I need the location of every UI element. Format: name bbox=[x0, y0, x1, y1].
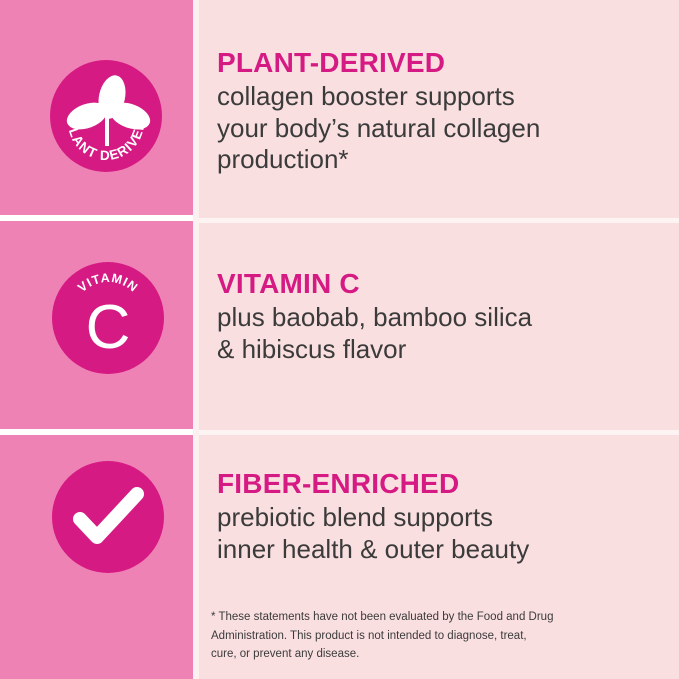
benefit-body: prebiotic blend supports inner health & … bbox=[217, 502, 667, 565]
benefit-block-vitamin-c: VITAMIN C plus baobab, bamboo silica & h… bbox=[217, 268, 667, 365]
fiber-enriched-badge bbox=[52, 461, 164, 573]
benefit-headline: PLANT-DERIVED bbox=[217, 47, 667, 79]
checkmark-icon bbox=[80, 494, 137, 537]
plant-derived-badge: PLANT DERIVED bbox=[50, 60, 162, 172]
benefit-block-plant-derived: PLANT-DERIVED collagen booster supports … bbox=[217, 47, 667, 176]
content-panel: PLANT-DERIVED collagen booster supports … bbox=[199, 0, 679, 679]
vitamin-badge-letter: C bbox=[86, 293, 131, 362]
vitamin-badge-arc-label: VITAMIN bbox=[75, 271, 141, 295]
benefit-body: plus baobab, bamboo silica & hibiscus fl… bbox=[217, 302, 667, 365]
fda-disclaimer: * These statements have not been evaluat… bbox=[211, 608, 626, 664]
badge-column-divider-2 bbox=[0, 429, 193, 435]
content-divider-1 bbox=[199, 218, 679, 223]
vitamin-c-badge: VITAMIN C bbox=[52, 262, 164, 374]
svg-text:VITAMIN: VITAMIN bbox=[75, 271, 141, 295]
content-divider-2 bbox=[199, 430, 679, 435]
benefit-block-fiber-enriched: FIBER-ENRICHED prebiotic blend supports … bbox=[217, 468, 667, 565]
benefit-body: collagen booster supports your body’s na… bbox=[217, 81, 667, 175]
badge-column-divider-1 bbox=[0, 215, 193, 221]
product-benefits-infographic: PLANT DERIVED VITAMIN C PLANT-DERIVED co… bbox=[0, 0, 679, 679]
benefit-headline: FIBER-ENRICHED bbox=[217, 468, 667, 500]
benefit-headline: VITAMIN C bbox=[217, 268, 667, 300]
